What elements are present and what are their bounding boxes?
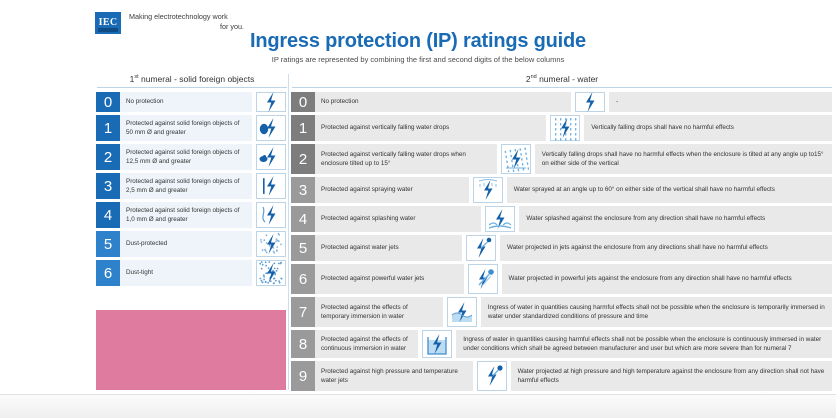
ip-ratings-guide-page: IEC Making electrotechnology work for yo… (0, 0, 836, 418)
digit-badge-7: 7 (291, 297, 315, 327)
solid-objects-column: 0No protection1Protected against solid f… (96, 92, 286, 289)
page-header: IEC Making electrotechnology work for yo… (0, 0, 836, 70)
table-row: 4Protected against splashing waterWater … (291, 206, 832, 232)
example-box: Example: + IP 65 Protected against water… (96, 310, 286, 390)
digit-badge-1: 1 (291, 115, 315, 141)
table-row: 1Protected against vertically falling wa… (291, 115, 832, 141)
table-row: 3Protected against solid foreign objects… (96, 173, 286, 199)
bolt-high-pressure-icon (477, 361, 507, 391)
water-column: 0No protection-1Protected against vertic… (291, 92, 832, 394)
digit-badge-5: 5 (291, 235, 315, 261)
row-description: Ingress of water in quantities causing h… (481, 297, 832, 327)
row-label: Protected against solid foreign objects … (120, 115, 252, 141)
row-description: - (609, 92, 832, 112)
bolt-wire-icon (256, 202, 286, 228)
bolt-splash-icon (485, 206, 515, 232)
row-label: Protected against the effects of tempora… (315, 297, 443, 327)
digit-badge-0: 0 (291, 92, 315, 112)
example-connector-lines (96, 310, 286, 390)
row-label: Protected against solid foreign objects … (120, 173, 252, 199)
bolt-immersion-cont-icon (422, 330, 452, 358)
digit-badge-9: 9 (291, 361, 315, 391)
col-head-right-text: numeral - water (537, 74, 598, 84)
table-row: 6Protected against powerful water jetsWa… (291, 264, 832, 294)
digit-badge-2: 2 (291, 144, 315, 174)
row-label: Dust-protected (120, 231, 252, 257)
row-label: Protected against water jets (315, 235, 462, 261)
column-header-solid-objects: 1st numeral - solid foreign objects (97, 74, 287, 88)
bolt-rain-tilted-icon (501, 144, 531, 174)
row-description: Water sprayed at an angle up to 60° on e… (507, 177, 832, 203)
table-row: 6Dust-tight (96, 260, 286, 286)
table-row: 3Protected against spraying waterWater s… (291, 177, 832, 203)
page-footer (0, 394, 836, 418)
bolt-plain-icon (575, 92, 605, 112)
digit-badge-4: 4 (291, 206, 315, 232)
digit-badge-5: 5 (96, 231, 120, 257)
row-label: No protection (315, 92, 571, 112)
bolt-plain-icon (256, 92, 286, 112)
row-label: Dust-tight (120, 260, 252, 286)
bolt-hand-icon (256, 115, 286, 141)
page-title: Ingress protection (IP) ratings guide (0, 30, 836, 53)
row-label: Protected against powerful water jets (315, 264, 464, 294)
digit-badge-4: 4 (96, 202, 120, 228)
bolt-rain-vertical-icon (550, 115, 580, 141)
table-row: 8Protected against the effects of contin… (291, 330, 832, 358)
bolt-finger-icon (256, 144, 286, 170)
digit-badge-3: 3 (96, 173, 120, 199)
digit-badge-8: 8 (291, 330, 315, 358)
bolt-powerful-jet-icon (468, 264, 498, 294)
brand-tagline: Making electrotechnology work for you. (129, 12, 244, 31)
table-row: 4Protected against solid foreign objects… (96, 202, 286, 228)
iec-logo-text: IEC (99, 18, 118, 28)
row-label: Protected against splashing water (315, 206, 481, 232)
row-description: Water splashed against the enclosure fro… (519, 206, 832, 232)
page-subtitle: IP ratings are represented by combining … (0, 55, 836, 64)
tagline-line-1: Making electrotechnology work (129, 12, 228, 21)
digit-badge-0: 0 (96, 92, 120, 112)
digit-badge-1: 1 (96, 115, 120, 141)
table-row: 9Protected against high pressure and tem… (291, 361, 832, 391)
row-label: Protected against solid foreign objects … (120, 202, 252, 228)
row-description: Water projected at high pressure and hig… (511, 361, 832, 391)
row-label: Protected against high pressure and temp… (315, 361, 473, 391)
bolt-tool-icon (256, 173, 286, 199)
bolt-dust-heavy-icon (256, 260, 286, 286)
table-row: 0No protection- (291, 92, 832, 112)
bolt-immersion-temp-icon (447, 297, 477, 327)
digit-badge-6: 6 (291, 264, 315, 294)
row-label: Protected against spraying water (315, 177, 469, 203)
row-label: Protected against vertically falling wat… (315, 115, 546, 141)
row-description: Vertically falling drops shall have no h… (584, 115, 832, 141)
row-description: Ingress of water in quantities causing h… (456, 330, 832, 358)
row-description: Water projected in jets against the encl… (500, 235, 832, 261)
table-row: 5Dust-protected (96, 231, 286, 257)
table-row: 7Protected against the effects of tempor… (291, 297, 832, 327)
table-row: 2Protected against vertically falling wa… (291, 144, 832, 174)
row-label: Protected against the effects of continu… (315, 330, 418, 358)
row-description: Vertically falling drops shall have no h… (535, 144, 832, 174)
bolt-jet-icon (466, 235, 496, 261)
table-row: 0No protection (96, 92, 286, 112)
row-description: Water projected in powerful jets against… (502, 264, 832, 294)
row-label: Protected against vertically falling wat… (315, 144, 497, 174)
row-label: No protection (120, 92, 252, 112)
table-row: 5Protected against water jetsWater proje… (291, 235, 832, 261)
column-divider (288, 74, 289, 390)
table-row: 1Protected against solid foreign objects… (96, 115, 286, 141)
column-header-water: 2nd numeral - water (292, 74, 832, 88)
table-row: 2Protected against solid foreign objects… (96, 144, 286, 170)
digit-badge-6: 6 (96, 260, 120, 286)
digit-badge-2: 2 (96, 144, 120, 170)
col-head-left-text: numeral - solid foreign objects (139, 74, 255, 84)
bolt-spray-icon (473, 177, 503, 203)
row-label: Protected against solid foreign objects … (120, 144, 252, 170)
digit-badge-3: 3 (291, 177, 315, 203)
bolt-dust-light-icon (256, 231, 286, 257)
